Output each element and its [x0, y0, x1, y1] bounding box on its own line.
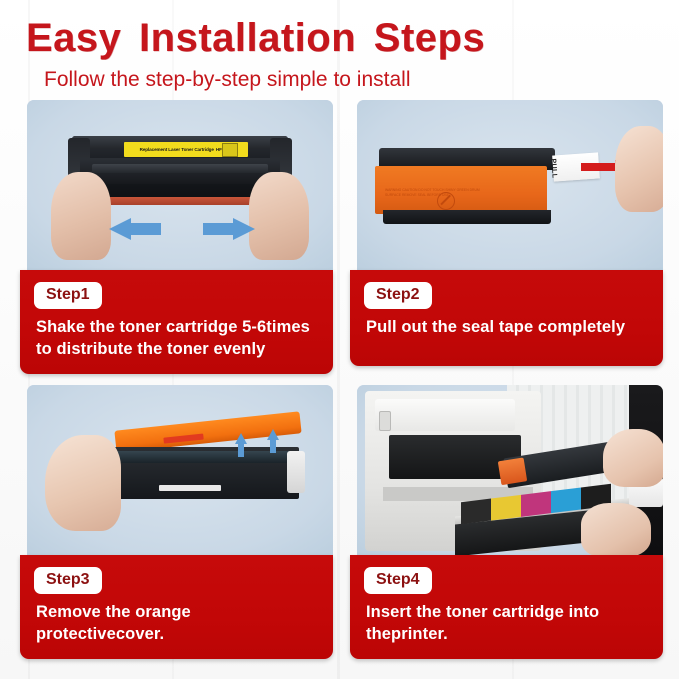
right-hand	[249, 172, 309, 260]
left-hand	[51, 172, 111, 260]
step-1-caption-card: Step1 Shake the toner cartridge 5-6times…	[20, 270, 333, 374]
toner-yellow	[491, 495, 521, 521]
cartridge-chip	[222, 143, 238, 157]
right-arrow-icon	[203, 218, 255, 240]
arrow-head	[109, 218, 131, 240]
step-card-3: Step3 Remove the orange protectivecover.	[20, 385, 333, 659]
toner-magenta	[521, 491, 551, 517]
toner-cartridge-illustration: WARNING CAUTION DO NOT TOUCH SHINY GREEN…	[375, 148, 557, 228]
step-3-caption-card: Step3 Remove the orange protectivecover.	[20, 555, 333, 659]
step-1-badge: Step1	[34, 282, 102, 309]
step-2-badge: Step2	[364, 282, 432, 309]
step-3-photo	[27, 385, 333, 555]
step-2-caption: Pull out the seal tape completely	[366, 316, 649, 338]
arrow-shaft	[270, 439, 276, 453]
toner-cyan	[551, 487, 581, 513]
cartridge-orange-cap	[498, 457, 527, 485]
arrow-shaft	[238, 443, 244, 457]
step-1-caption: Shake the toner cartridge 5-6times to di…	[36, 316, 319, 360]
step-card-4: Step4 Insert the toner cartridge into th…	[350, 385, 663, 659]
cartridge-end-cap	[287, 451, 305, 493]
page-subtitle: Follow the step-by-step simple to instal…	[0, 62, 679, 94]
up-arrow-icon	[235, 433, 247, 457]
step-4-badge: Step4	[364, 567, 432, 594]
toner-black	[461, 499, 491, 525]
steps-grid: Replacement Laser Toner CartridgeHF312A	[0, 100, 679, 670]
page-title: Easy Installation Steps	[0, 0, 679, 62]
step-1-photo: Replacement Laser Toner CartridgeHF312A	[27, 100, 333, 270]
hand-holding-cartridge	[45, 435, 121, 531]
up-arrow-icon	[267, 429, 279, 453]
arrow-shaft	[581, 163, 615, 171]
cartridge-orange-body: WARNING CAUTION DO NOT TOUCH SHINY GREEN…	[375, 166, 547, 214]
step-2-caption-card: Step2 Pull out the seal tape completely	[350, 270, 663, 366]
hand-pulling-tape	[615, 126, 663, 212]
step-3-badge: Step3	[34, 567, 102, 594]
step-card-2: WARNING CAUTION DO NOT TOUCH SHINY GREEN…	[350, 100, 663, 366]
step-2-photo: WARNING CAUTION DO NOT TOUCH SHINY GREEN…	[357, 100, 663, 270]
seal-tape-label: PULL	[549, 158, 557, 178]
cartridge-base	[383, 210, 551, 224]
step-4-caption: Insert the toner cartridge into theprint…	[366, 601, 649, 645]
cartridge-drum	[80, 158, 280, 184]
arrow-head	[233, 218, 255, 240]
cover-red-strip	[163, 434, 203, 444]
warning-text: WARNING CAUTION DO NOT TOUCH SHINY GREEN…	[385, 188, 481, 210]
upper-hand	[603, 429, 663, 487]
arrow-shaft	[203, 223, 233, 235]
arrow-shaft	[131, 223, 161, 235]
no-touch-icon	[437, 192, 455, 210]
left-arrow-icon	[109, 218, 161, 240]
lower-hand	[581, 503, 651, 555]
cartridge-white-label	[159, 485, 221, 491]
header: Easy Installation Steps Follow the step-…	[0, 0, 679, 94]
printer-handle	[379, 411, 391, 431]
printer-top-panel	[375, 399, 515, 431]
cartridge-label-text: Replacement Laser Toner Cartridge	[140, 147, 214, 152]
step-card-1: Replacement Laser Toner CartridgeHF312A	[20, 100, 333, 374]
step-4-photo	[357, 385, 663, 555]
step-4-caption-card: Step4 Insert the toner cartridge into th…	[350, 555, 663, 659]
installation-steps-infographic: Easy Installation Steps Follow the step-…	[0, 0, 679, 679]
step-3-caption: Remove the orange protectivecover.	[36, 601, 319, 645]
toner-cartridge-illustration	[109, 447, 299, 499]
